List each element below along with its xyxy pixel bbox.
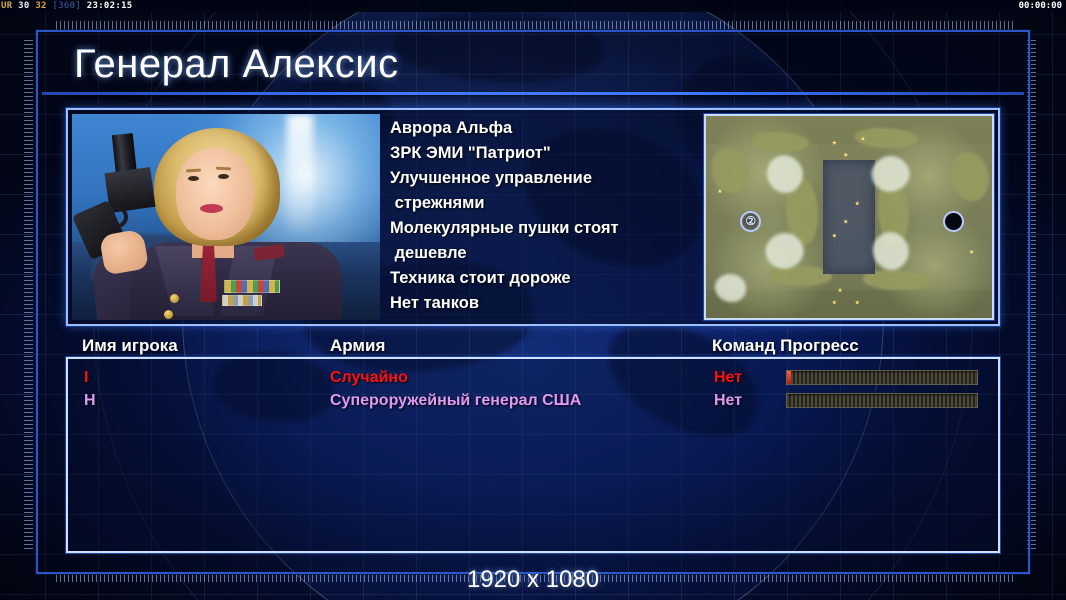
ruler-left	[24, 40, 33, 552]
description-line-5: дешевле	[390, 241, 690, 266]
general-info-panel: Аврора Альфа ЗРК ЭМИ "Патриот" Улучшенно…	[66, 108, 1000, 326]
table-row[interactable]: I Случайно Нет	[68, 366, 998, 389]
player-team[interactable]: Нет	[714, 366, 742, 389]
progress-bar	[786, 393, 978, 408]
status-value2: 32	[35, 1, 46, 11]
ruler-top	[56, 21, 1016, 30]
description-line-6: Техника стоит дороже	[390, 266, 690, 291]
general-portrait	[72, 114, 380, 320]
table-row[interactable]: H Супероружейный генерал США Нет	[68, 389, 998, 412]
description-line-0: Аврора Альфа	[390, 116, 690, 141]
page-title: Генерал Алексис	[74, 38, 399, 90]
status-bar-left: UR 30 32 [360] 23:02:15	[1, 0, 133, 12]
description-line-3: стрежнями	[390, 191, 690, 216]
status-value1: 30	[18, 1, 29, 11]
status-timer: 00:00:00	[1019, 0, 1062, 12]
game-menu-screen: UR 30 32 [360] 23:02:15 00:00:00 Генерал…	[0, 0, 1066, 600]
description-line-7: Нет танков	[390, 291, 690, 316]
description-line-4: Молекулярные пушки стоят	[390, 216, 690, 241]
status-bracket: [360]	[52, 1, 81, 11]
minimap[interactable]: ②	[704, 114, 994, 320]
column-header-army: Армия	[330, 336, 385, 356]
column-header-player-name: Имя игрока	[82, 336, 178, 356]
status-label: UR	[1, 1, 12, 11]
column-header-team-progress: Команд Прогресс	[712, 336, 859, 356]
player-name: H	[84, 389, 96, 412]
title-divider	[42, 92, 1024, 95]
resolution-label: 1920 x 1080	[0, 566, 1066, 594]
general-description: Аврора Альфа ЗРК ЭМИ "Патриот" Улучшенно…	[390, 116, 690, 316]
status-bar: UR 30 32 [360] 23:02:15 00:00:00	[0, 0, 1066, 12]
status-clock: 23:02:15	[87, 1, 133, 11]
player-table-header: Имя игрока Армия Команд Прогресс	[66, 336, 1000, 358]
player-name: I	[84, 366, 88, 389]
player-army[interactable]: Супероружейный генерал США	[330, 389, 581, 412]
title-area: Генерал Алексис	[44, 38, 1022, 90]
description-line-1: ЗРК ЭМИ "Патриот"	[390, 141, 690, 166]
progress-bar	[786, 370, 978, 385]
player-army[interactable]: Случайно	[330, 366, 408, 389]
description-line-2: Улучшенное управление	[390, 166, 690, 191]
player-table: I Случайно Нет H Супероружейный генерал …	[66, 357, 1000, 553]
player-team[interactable]: Нет	[714, 389, 742, 412]
